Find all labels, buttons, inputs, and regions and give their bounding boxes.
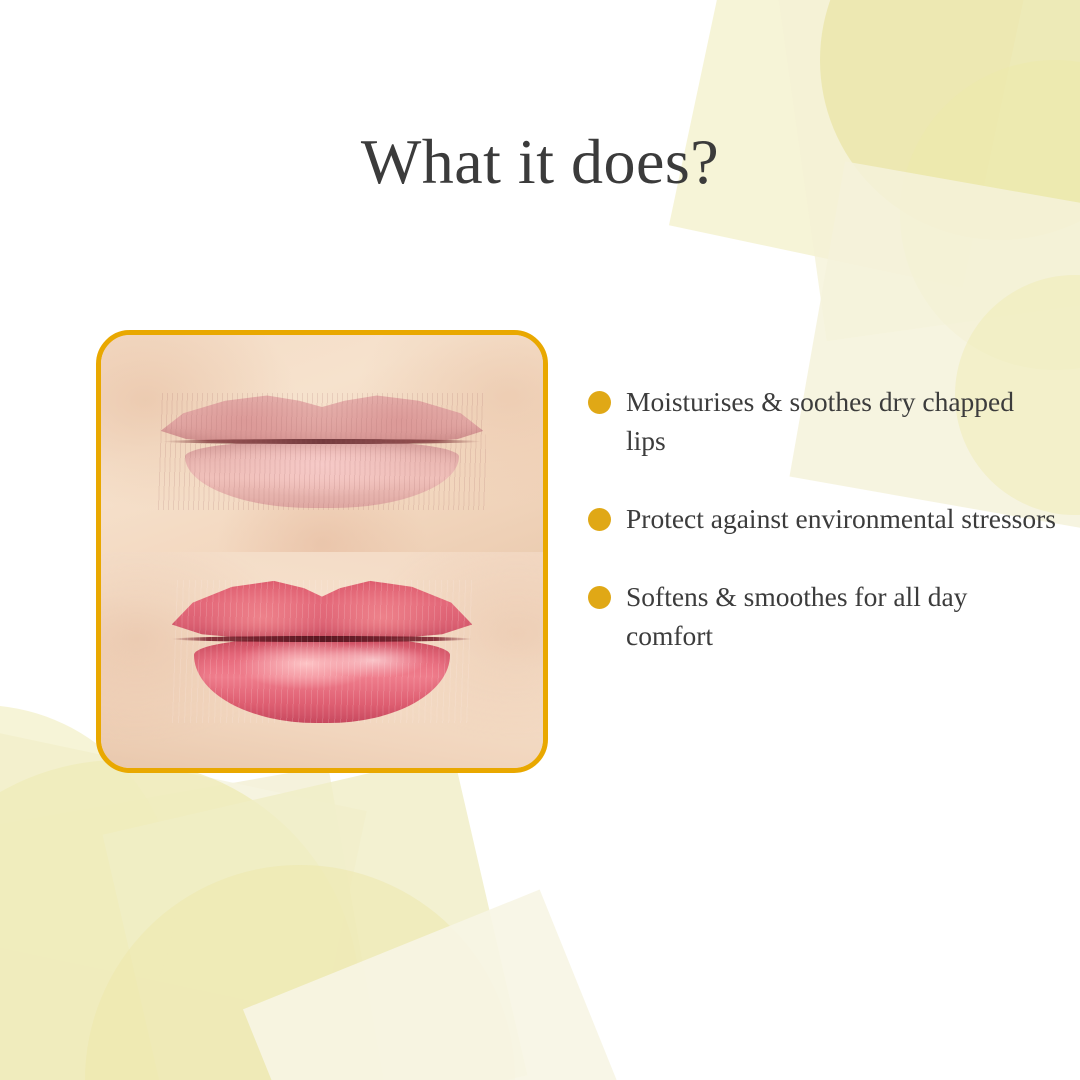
list-item: Softens & smoothes for all day comfort [588,577,1058,655]
list-item: Protect against environmental stressors [588,499,1058,538]
decor-circle-bl-1 [0,760,360,1080]
decor-rect-bl-1 [0,766,385,1080]
decor-circle-bl-3 [85,865,515,1080]
before-lips-photo [101,335,543,552]
bullet-dot-icon [588,508,611,531]
after-gloss-texture [172,580,473,723]
before-dry-texture [158,393,485,510]
bullet-dot-icon [588,391,611,414]
decor-rect-bl-4 [243,890,637,1080]
decor-rect-bl-3 [102,754,527,1080]
before-after-image-frame [96,330,548,773]
promo-slide: What it does? Moisturises & soothes dry … [0,0,1080,1080]
benefits-list: Moisturises & soothes dry chapped lips P… [588,382,1058,655]
decor-circle-tr-1 [820,0,1080,240]
benefit-text: Moisturises & soothes dry chapped lips [626,382,1058,460]
benefit-text: Softens & smoothes for all day comfort [626,577,1058,655]
list-item: Moisturises & soothes dry chapped lips [588,382,1058,460]
benefit-text: Protect against environmental stressors [626,499,1058,538]
decor-circle-tr-2 [900,60,1080,370]
after-lips-photo [101,552,543,769]
bullet-dot-icon [588,586,611,609]
page-title: What it does? [0,127,1080,197]
